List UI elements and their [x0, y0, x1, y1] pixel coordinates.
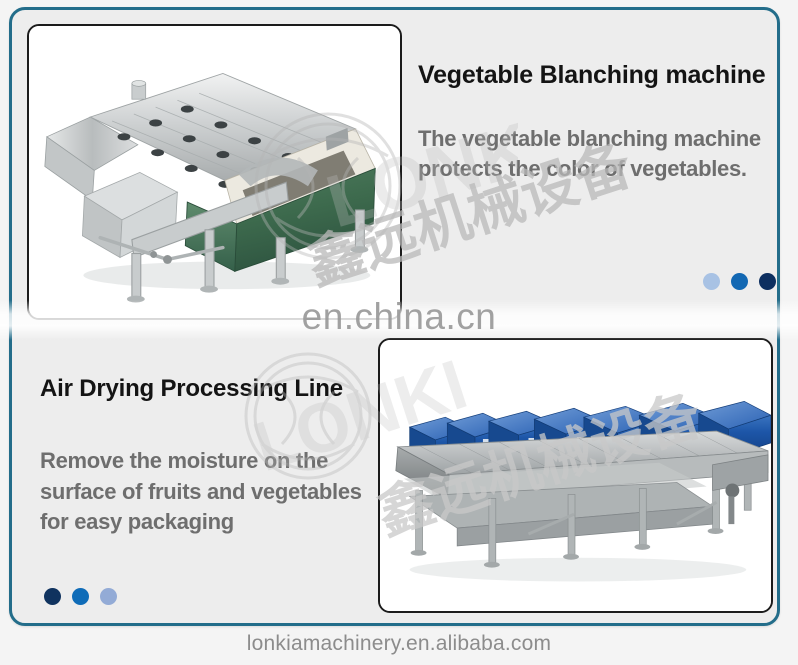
dot-indicator-3[interactable] — [759, 273, 776, 290]
blanching-text-block: Vegetable Blanching machine The vegetabl… — [418, 62, 768, 184]
air-drying-body-text: Remove the moisture on the surface of fr… — [40, 446, 375, 537]
air-drying-text-block: Air Drying Processing Line Remove the mo… — [40, 376, 375, 537]
dot-indicator-1[interactable] — [44, 588, 61, 605]
air-drying-dot-indicators[interactable] — [44, 588, 117, 605]
air-drying-line-image-panel[interactable] — [378, 338, 773, 613]
vegetable-blanching-machine-photo — [29, 26, 400, 319]
promo-banner: LONKIA LONKIA 鑫远机械设备 鑫远机械设备 Vegetable Bl… — [0, 0, 798, 665]
dot-indicator-3[interactable] — [100, 588, 117, 605]
dot-indicator-2[interactable] — [731, 273, 748, 290]
air-drying-headline: Air Drying Processing Line — [40, 376, 375, 402]
site-url-watermark: lonkiamachinery.en.alibaba.com — [0, 632, 798, 656]
dot-indicator-1[interactable] — [703, 273, 720, 290]
blanching-body-text: The vegetable blanching machine protects… — [418, 124, 768, 185]
air-drying-processing-line-photo — [380, 340, 771, 612]
blanching-headline: Vegetable Blanching machine — [418, 62, 768, 90]
dot-indicator-2[interactable] — [72, 588, 89, 605]
blanching-dot-indicators[interactable] — [703, 273, 776, 290]
blanching-machine-image-panel[interactable] — [27, 24, 402, 320]
